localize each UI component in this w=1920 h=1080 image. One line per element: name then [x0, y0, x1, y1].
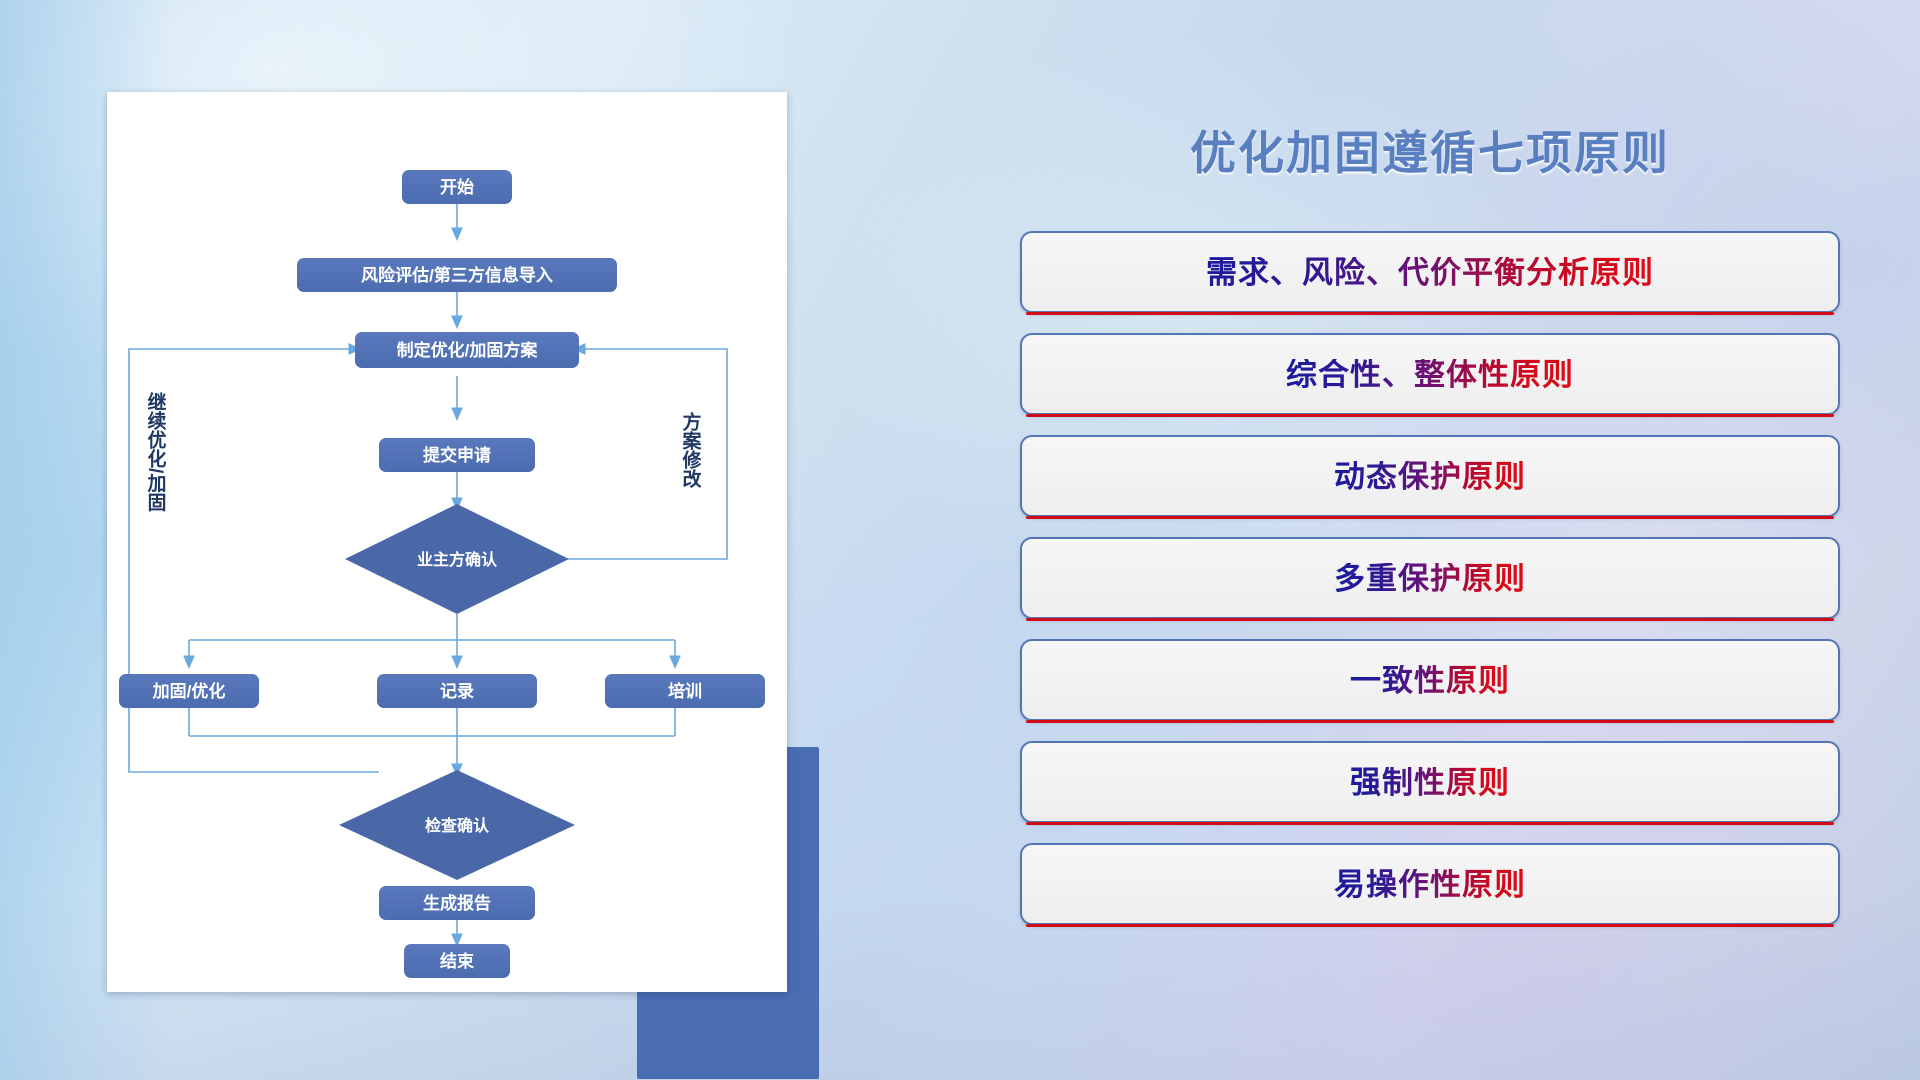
principle-item-6[interactable]: 强制性原则: [1020, 741, 1840, 823]
flow-node-label: 风险评估/第三方信息导入: [361, 265, 553, 285]
flow-node-label: 加固/优化: [152, 681, 226, 701]
principle-label: 易操作性原则: [1334, 869, 1526, 900]
principle-label: 动态保护原则: [1334, 461, 1526, 492]
flow-node-report[interactable]: 生成报告: [379, 886, 535, 920]
principle-label: 强制性原则: [1350, 767, 1510, 798]
flow-node-check-confirm[interactable]: 检查确认: [339, 770, 575, 880]
flow-edge-label-right-loop: 方案修改: [680, 411, 703, 489]
principle-item-5[interactable]: 一致性原则: [1020, 639, 1840, 721]
principle-label: 多重保护原则: [1334, 563, 1526, 594]
flow-node-record[interactable]: 记录: [377, 674, 537, 708]
flow-node-label: 结束: [440, 951, 474, 971]
principle-item-3[interactable]: 动态保护原则: [1020, 435, 1840, 517]
principle-item-1[interactable]: 需求、风险、代价平衡分析原则: [1020, 231, 1840, 313]
principle-label: 需求、风险、代价平衡分析原则: [1206, 257, 1654, 288]
principles-list: 需求、风险、代价平衡分析原则 综合性、整体性原则 动态保护原则 多重保护原则 一…: [1020, 231, 1840, 925]
principle-item-7[interactable]: 易操作性原则: [1020, 843, 1840, 925]
flow-node-start[interactable]: 开始: [402, 170, 512, 204]
flowchart-diagram: 开始 风险评估/第三方信息导入 制定优化/加固方案 提交申请 业主方确认: [107, 92, 787, 992]
principle-item-2[interactable]: 综合性、整体性原则: [1020, 333, 1840, 415]
flowchart-card: 开始 风险评估/第三方信息导入 制定优化/加固方案 提交申请 业主方确认: [107, 92, 787, 992]
flow-node-label: 记录: [440, 682, 474, 701]
principles-panel: 优化加固遵循七项原则 需求、风险、代价平衡分析原则 综合性、整体性原则 动态保护…: [1020, 92, 1840, 992]
flow-node-owner-confirm[interactable]: 业主方确认: [345, 504, 569, 614]
flow-node-reinforce[interactable]: 加固/优化: [119, 674, 259, 708]
flow-node-label: 制定优化/加固方案: [397, 340, 539, 360]
flow-node-end[interactable]: 结束: [404, 944, 510, 978]
flow-node-label: 开始: [440, 177, 474, 197]
flow-node-risk-assessment[interactable]: 风险评估/第三方信息导入: [297, 258, 617, 292]
flow-node-plan[interactable]: 制定优化/加固方案: [355, 332, 579, 368]
flow-node-label: 业主方确认: [417, 550, 498, 569]
flow-node-label: 检查确认: [425, 816, 490, 835]
page-title: 优化加固遵循七项原则: [1020, 117, 1840, 183]
flowchart-panel: 开始 风险评估/第三方信息导入 制定优化/加固方案 提交申请 业主方确认: [107, 92, 787, 972]
flow-node-label: 提交申请: [423, 445, 491, 465]
flow-node-submit[interactable]: 提交申请: [379, 438, 535, 472]
flow-node-training[interactable]: 培训: [605, 674, 765, 708]
principle-item-4[interactable]: 多重保护原则: [1020, 537, 1840, 619]
flow-node-label: 生成报告: [423, 893, 491, 913]
principle-label: 一致性原则: [1350, 665, 1510, 696]
principle-label: 综合性、整体性原则: [1286, 359, 1574, 390]
flow-edge-label-left-loop: 继续优化/加固: [145, 391, 168, 512]
flow-node-label: 培训: [668, 681, 702, 701]
